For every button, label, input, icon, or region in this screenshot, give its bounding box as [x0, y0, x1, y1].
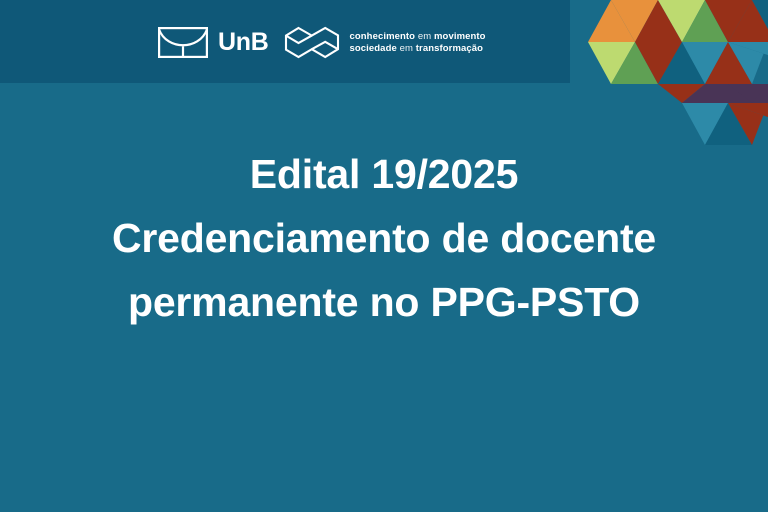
announcement-title-block: Edital 19/2025 Credenciamento de docente… [0, 0, 768, 512]
page-title-line-2: Credenciamento de docente [112, 206, 656, 270]
page-title-line-1: Edital 19/2025 [250, 142, 518, 206]
page-title-line-3: permanente no PPG-PSTO [128, 270, 640, 334]
